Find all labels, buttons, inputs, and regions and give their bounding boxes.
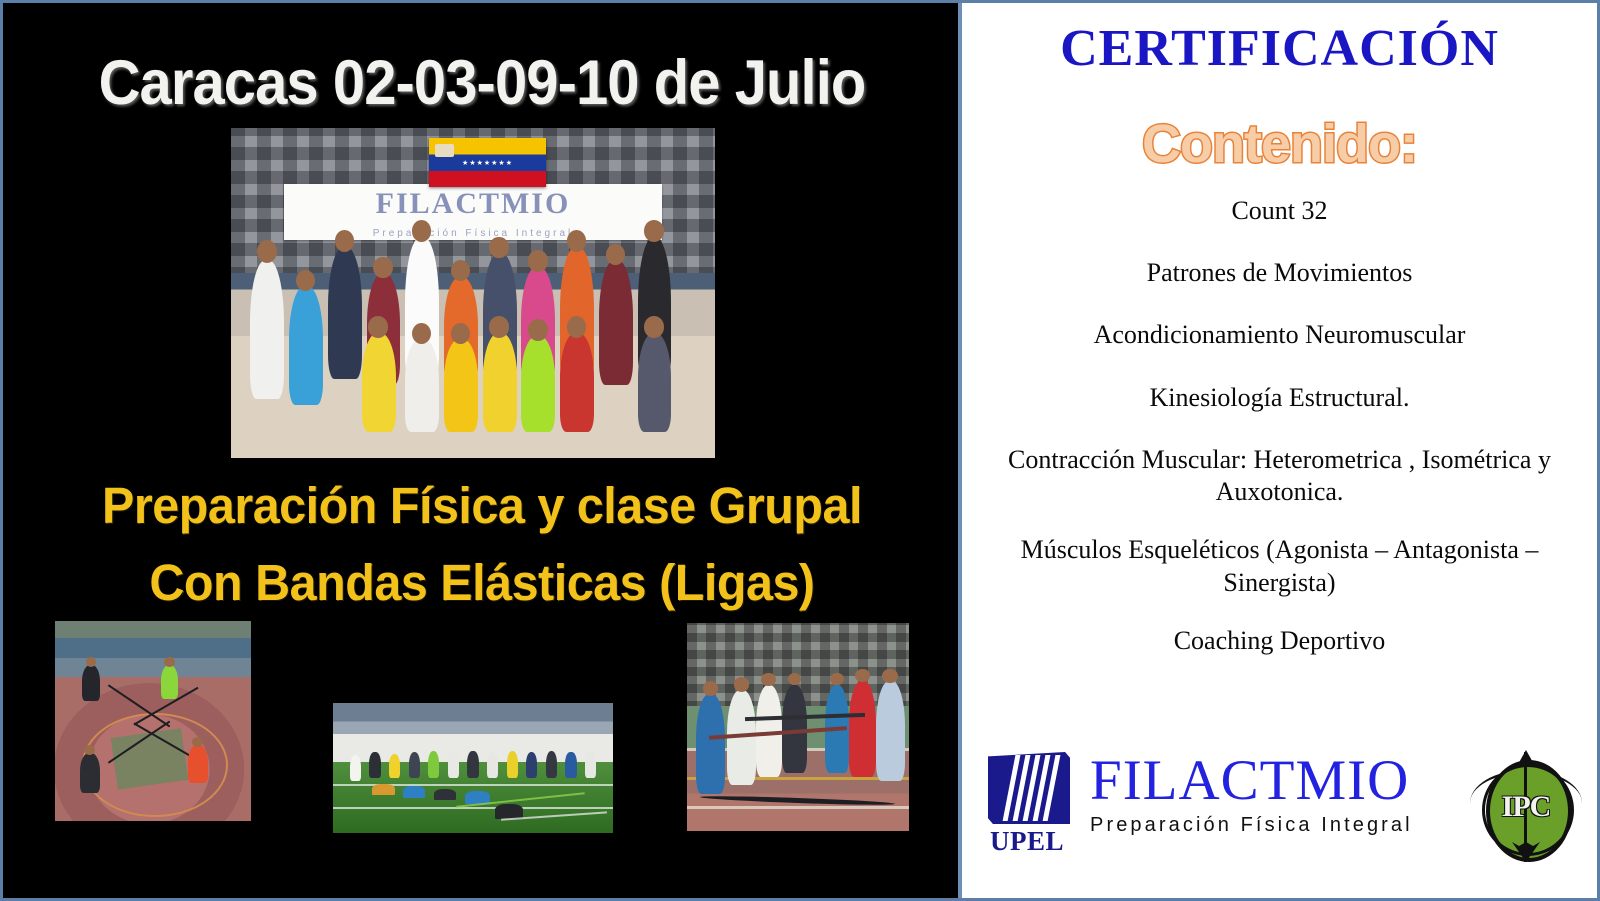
list-item: Acondicionamiento Neuromuscular — [972, 319, 1587, 351]
photo-roof — [333, 703, 613, 737]
yellow-heading-line-1: Preparación Física y clase Grupal — [27, 468, 937, 545]
ipc-logo: IPC — [1470, 750, 1582, 864]
list-item: Coaching Deportivo — [972, 625, 1587, 657]
page-title: CERTIFICACIÓN — [962, 19, 1597, 78]
filactmio-name: FILACTMIO — [1090, 752, 1460, 809]
left-dark-panel: Caracas 02-03-09-10 de Julio FILACTMIO P… — [3, 3, 961, 898]
photo-court-bands — [55, 621, 251, 821]
logo-bar: UPEL FILACTMIO Preparación Física Integr… — [962, 748, 1597, 866]
list-item: Kinesiología Estructural. — [972, 382, 1587, 414]
ipc-label: IPC — [1470, 790, 1582, 824]
upel-logo: UPEL — [974, 752, 1080, 860]
filactmio-logo: FILACTMIO Preparación Física Integral — [1090, 752, 1460, 837]
banner-text: FILACTMIO — [284, 187, 662, 221]
photo-rows-bands — [687, 623, 909, 831]
filactmio-tagline: Preparación Física Integral — [1090, 814, 1460, 837]
list-item: Músculos Esqueléticos (Agonista – Antago… — [972, 534, 1587, 598]
flag-stars: ★★★★★★★ — [462, 159, 513, 167]
right-white-panel: CERTIFICACIÓN Contenido: Count 32 Patron… — [962, 3, 1597, 898]
date-heading: Caracas 02-03-09-10 de Julio — [41, 47, 922, 119]
yellow-heading-line-2: Con Bandas Elásticas (Ligas) — [27, 545, 937, 622]
poster-root: Caracas 02-03-09-10 de Julio FILACTMIO P… — [0, 0, 1600, 901]
list-item: Contracción Muscular: Heterometrica , Is… — [972, 444, 1587, 508]
book-icon — [988, 752, 1070, 824]
yellow-heading: Preparación Física y clase Grupal Con Ba… — [27, 468, 937, 621]
contenido-heading: Contenido: — [962, 113, 1597, 175]
group-photo-filactmio: FILACTMIO Preparación Física Integral ★★… — [231, 128, 715, 458]
content-list: Count 32 Patrones de Movimientos Acondic… — [972, 195, 1587, 687]
list-item: Patrones de Movimientos — [972, 257, 1587, 289]
photo-turf-planks — [333, 703, 613, 833]
flag-seal — [435, 144, 454, 157]
upel-label: UPEL — [974, 826, 1080, 857]
list-item: Count 32 — [972, 195, 1587, 227]
venezuela-flag-icon: ★★★★★★★ — [429, 138, 545, 188]
arrow-head-icon — [1517, 750, 1535, 766]
